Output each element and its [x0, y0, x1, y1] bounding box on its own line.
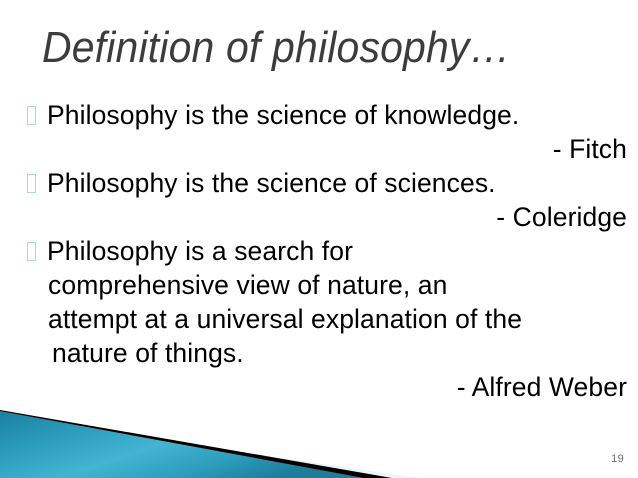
attribution-coleridge: - Coleridge	[0, 200, 638, 234]
list-item-line: comprehensive view of nature, an	[47, 268, 628, 302]
list-item: Philosophy is the science of sciences.	[0, 166, 638, 200]
list-item-text: Philosophy is a search for comprehensive…	[47, 234, 628, 370]
list-item-text: Philosophy is the science of sciences.	[47, 166, 628, 200]
tofu-box-bullet-icon	[27, 242, 36, 261]
tofu-box-bullet-icon	[27, 174, 36, 193]
attribution-fitch: - Fitch	[0, 132, 638, 166]
page-number: 19	[611, 453, 624, 466]
swoosh-pale-band	[0, 417, 420, 478]
slide-canvas: Definition of philosophy… Philosophy is …	[0, 0, 638, 478]
list-item-line: Philosophy is the science of knowledge.	[47, 98, 628, 132]
list-item-line: attempt at a universal explanation of th…	[47, 302, 628, 336]
list-item-line: nature of things.	[47, 336, 628, 370]
swoosh-black-stripe	[0, 410, 392, 478]
list-item-line: Philosophy is a search for	[47, 234, 628, 268]
list-item-text: Philosophy is the science of knowledge.	[47, 98, 628, 132]
swoosh-teal-wedge	[0, 411, 364, 478]
list-item: Philosophy is the science of knowledge.	[0, 98, 638, 132]
bullet-list: Philosophy is the science of knowledge. …	[0, 98, 638, 404]
attribution-alfred-weber: - Alfred Weber	[0, 370, 638, 404]
list-item-line: Philosophy is the science of sciences.	[47, 166, 628, 200]
swoosh-svg	[0, 395, 420, 478]
decorative-swoosh-graphic	[0, 395, 420, 478]
tofu-box-bullet-icon	[27, 106, 36, 125]
page-title: Definition of philosophy…	[42, 22, 563, 80]
list-item: Philosophy is a search for comprehensive…	[0, 234, 638, 370]
